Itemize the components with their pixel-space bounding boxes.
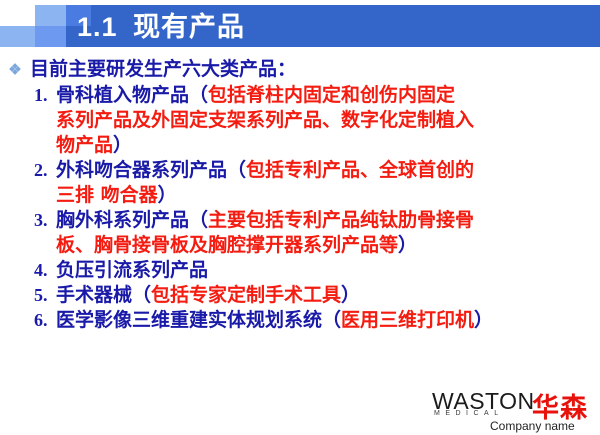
- product-list-item-number: 4.: [34, 258, 56, 283]
- text-span-red: 医用三维打印机: [341, 309, 474, 331]
- text-span-blue: 医学影像三维重建实体规划系统（: [56, 309, 341, 331]
- page-title-label: 现有产品: [133, 12, 245, 42]
- product-list-item: 2.外科吻合器系列产品（包括专利产品、全球首创的三排 吻合器）: [0, 158, 600, 208]
- product-list-item-line: 骨科植入物产品（包括脊柱内固定和创伤内固定: [56, 83, 600, 108]
- lead-line-text: 目前主要研发生产六大类产品：: [30, 58, 296, 80]
- product-list-item: 6.医学影像三维重建实体规划系统（医用三维打印机）: [0, 308, 600, 333]
- product-list-item-line: 系列产品及外固定支架系列产品、数字化定制植入: [56, 108, 600, 133]
- product-list-item: 5.手术器械（包括专家定制手术工具）: [0, 283, 600, 308]
- title-decor-block-1: [35, 5, 66, 26]
- title-decor-block-4: [35, 26, 66, 47]
- product-list-item-line: 负压引流系列产品: [56, 258, 600, 283]
- product-list-item-line: 胸外科系列产品（主要包括专利产品纯钛肋骨接骨: [56, 208, 600, 233]
- text-span-red: 三排 吻合器: [56, 184, 158, 206]
- product-list-item-line: 三排 吻合器）: [56, 183, 600, 208]
- product-list-item-line: 板、胸骨接骨板及胸腔撑开器系列产品等）: [56, 233, 600, 258]
- slide-title-band: 1.1 现有产品: [0, 5, 600, 47]
- text-span-red: 物产品: [56, 134, 113, 156]
- product-list-item-line: 手术器械（包括专家定制手术工具）: [56, 283, 600, 308]
- text-span-blue: ）: [398, 234, 417, 256]
- slide-body: 目前主要研发生产六大类产品： 1.骨科植入物产品（包括脊柱内固定和创伤内固定系列…: [0, 55, 600, 333]
- text-span-red: 主要包括专利产品纯钛肋骨接骨: [208, 209, 474, 231]
- text-span-blue: 手术器械（: [56, 284, 151, 306]
- product-list-item-line: 物产品）: [56, 133, 600, 158]
- text-span-red: 系列产品及外固定支架系列产品、数字化定制植入: [56, 109, 474, 131]
- text-span-blue: 外科吻合器系列产品（: [56, 159, 246, 181]
- text-span-blue: 胸外科系列产品（: [56, 209, 208, 231]
- text-span-red: 板、胸骨接骨板及胸腔撑开器系列产品等: [56, 234, 398, 256]
- page-title-number: 1.1: [77, 12, 118, 42]
- text-span-blue: ）: [113, 134, 132, 156]
- product-list-item-number: 6.: [34, 308, 56, 333]
- text-span-blue: ）: [158, 184, 177, 206]
- logo-company-name: Company name: [490, 419, 575, 433]
- product-list-item-number: 2.: [34, 158, 56, 183]
- page-title: 1.1 现有产品: [77, 8, 245, 46]
- logo-brand-subtitle: MEDICAL: [434, 410, 504, 417]
- text-span-red: 包括专利产品、全球首创的: [246, 159, 474, 181]
- product-list-item: 4.负压引流系列产品: [0, 258, 600, 283]
- text-span-blue: ）: [474, 309, 493, 331]
- company-logo: WASTON MEDICAL 华森 Company name: [432, 388, 592, 432]
- product-list-item-number: 5.: [34, 283, 56, 308]
- diamond-bullet-icon: [10, 64, 21, 75]
- lead-line: 目前主要研发生产六大类产品：: [0, 55, 600, 83]
- text-span-blue: 负压引流系列产品: [56, 259, 208, 281]
- text-span-blue: ）: [341, 284, 360, 306]
- product-list-item-line: 外科吻合器系列产品（包括专利产品、全球首创的: [56, 158, 600, 183]
- text-span-red: 包括专家定制手术工具: [151, 284, 341, 306]
- product-list-item-line: 医学影像三维重建实体规划系统（医用三维打印机）: [56, 308, 600, 333]
- text-span-blue: 骨科植入物产品（: [56, 84, 208, 106]
- product-list-item: 3.胸外科系列产品（主要包括专利产品纯钛肋骨接骨板、胸骨接骨板及胸腔撑开器系列产…: [0, 208, 600, 258]
- product-list-item-number: 1.: [34, 83, 56, 108]
- product-list: 1.骨科植入物产品（包括脊柱内固定和创伤内固定系列产品及外固定支架系列产品、数字…: [0, 83, 600, 333]
- title-decor-block-3: [0, 26, 35, 47]
- text-span-red: 包括脊柱内固定和创伤内固定: [208, 84, 455, 106]
- product-list-item-number: 3.: [34, 208, 56, 233]
- product-list-item: 1.骨科植入物产品（包括脊柱内固定和创伤内固定系列产品及外固定支架系列产品、数字…: [0, 83, 600, 158]
- slide-canvas: 1.1 现有产品 目前主要研发生产六大类产品： 1.骨科植入物产品（包括脊柱内固…: [0, 0, 600, 435]
